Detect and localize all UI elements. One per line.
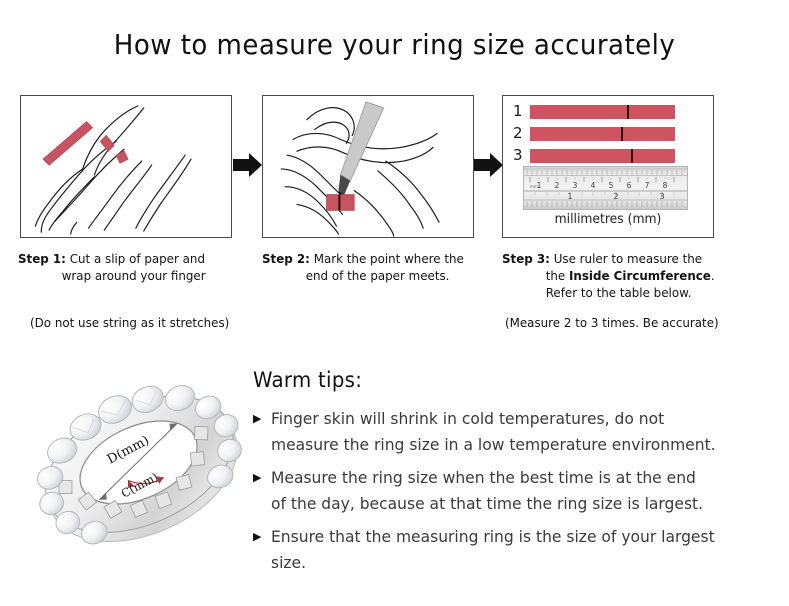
strip-number-1: 1 [513,104,530,119]
strip-mark-3 [631,149,633,163]
strip-number-2: 2 [513,126,530,141]
arrow-step2-to-step3 [474,152,504,178]
step-2-caption: Step 2: Mark the point where the end of … [262,250,500,284]
step-3-line2: the Inside Circumference. [502,267,744,284]
measured-strip-row-3: 3 [513,148,675,163]
step-3-label: Step 3: [502,251,550,266]
step-2-label: Step 2: [262,251,310,266]
bullet-triangle-icon: ▶ [253,524,271,550]
step-2-line1: Mark the point where the [314,251,464,266]
hand-with-paper-strip-drawing [21,96,231,237]
svg-text:2: 2 [555,181,560,190]
step-2-illustration-panel [262,95,474,238]
strip-mark-1 [627,105,629,119]
warm-tip-2-line1: Measure the ring size when the best time… [271,468,696,487]
right-arrow-icon [233,152,263,178]
svg-text:6: 6 [627,181,632,190]
paper-strip-2 [530,127,675,141]
warm-tip-1-line1: Finger skin will shrink in cold temperat… [271,409,664,428]
hand-marking-paper-drawing [263,96,473,237]
ring-diagram: D(mm) C(mm) [28,352,254,584]
warm-tip-item: ▶ Measure the ring size when the best ti… [253,465,773,517]
step-1-note: (Do not use string as it stretches) [30,315,229,330]
step-3-line3: Refer to the table below. [502,284,744,301]
warm-tip-2-line2: of the day, because at that time the rin… [271,494,703,513]
step-3-illustration-panel: 1 2 3 [502,95,714,238]
strip-number-3: 3 [513,148,530,163]
svg-text:7: 7 [645,181,650,190]
arrow-step1-to-step2 [233,152,263,178]
warm-tip-1-line2: measure the ring size in a low temperatu… [271,435,716,454]
bullet-triangle-icon: ▶ [253,406,271,432]
warm-tip-item: ▶ Finger skin will shrink in cold temper… [253,406,773,458]
svg-text:mm: mm [530,184,538,189]
warm-tip-3-line2: size. [271,553,306,572]
step-3-caption: Step 3: Use ruler to measure the the Ins… [502,250,744,301]
step-1-illustration-panel [20,95,232,238]
step-1-caption: Step 1: Cut a slip of paper and wrap aro… [18,250,256,284]
svg-text:4: 4 [591,181,596,190]
warm-tip-3-line1: Ensure that the measuring ring is the si… [271,527,715,546]
svg-text:5: 5 [609,181,614,190]
step-1-line1: Cut a slip of paper and [70,251,205,266]
strip-mark-2 [621,127,623,141]
ruler-unit-caption: millimetres (mm) [508,212,708,227]
step-3-line2-bold: Inside Circumference [569,268,711,283]
paper-strip-3 [530,149,675,163]
warm-tip-text: Ensure that the measuring ring is the si… [271,524,715,576]
step-3-note: (Measure 2 to 3 times. Be accurate) [505,315,719,330]
ruler-scales: 1 2 3 4 5 6 7 8 mm 1 2 3 [524,167,687,209]
metal-ruler: 1 2 3 4 5 6 7 8 mm 1 2 3 [523,166,688,210]
warm-tip-text: Measure the ring size when the best time… [271,465,703,517]
step-1-line2: wrap around your finger [18,267,256,284]
step-3-line1: Use ruler to measure the [554,251,702,266]
paper-strip-1 [530,105,675,119]
measured-strip-row-1: 1 [513,104,675,119]
warm-tip-item: ▶ Ensure that the measuring ring is the … [253,524,773,576]
warm-tips-heading: Warm tips: [253,368,742,392]
svg-text:3: 3 [573,181,578,190]
warm-tips-section: Warm tips: ▶ Finger skin will shrink in … [253,368,773,583]
right-arrow-icon [474,152,504,178]
step-2-line2: end of the paper meets. [262,267,500,284]
page-title: How to measure your ring size accurately [28,28,762,61]
svg-text:8: 8 [663,181,668,190]
bullet-triangle-icon: ▶ [253,465,271,491]
step-1-label: Step 1: [18,251,66,266]
eternity-ring-illustration: D(mm) C(mm) [28,352,254,584]
warm-tip-text: Finger skin will shrink in cold temperat… [271,406,716,458]
step-3-line2-prefix: the [546,268,569,283]
step-3-line2-suffix: . [711,268,715,283]
measured-strip-row-2: 2 [513,126,675,141]
